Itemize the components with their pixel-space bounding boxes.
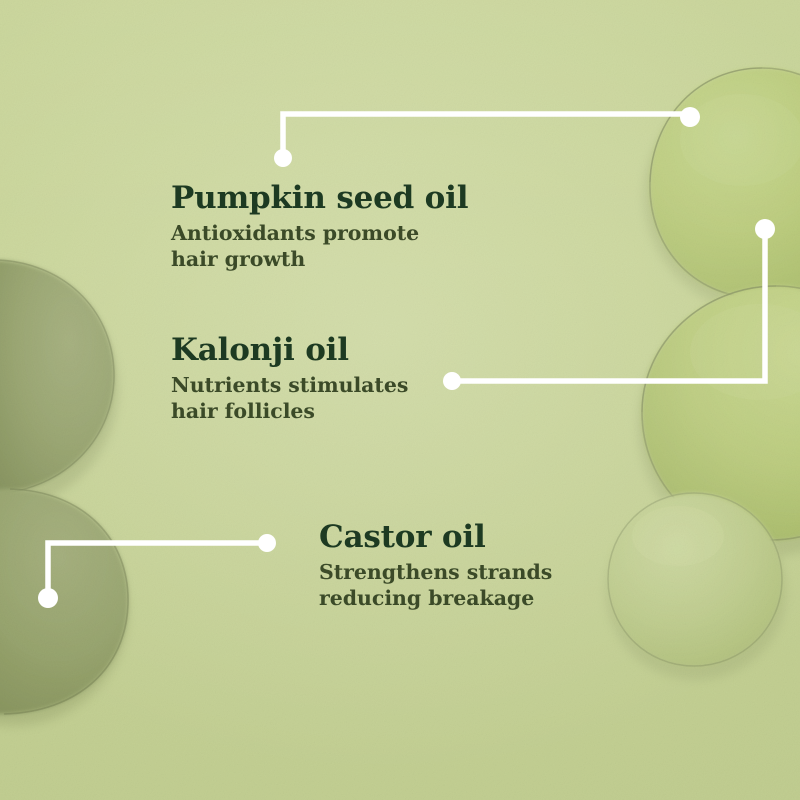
ingredient-description: Strengthens strands reducing breakage (319, 560, 552, 612)
blob-bottom-right (608, 493, 782, 666)
ingredient-block-pumpkin-seed-oil: Pumpkin seed oil Antioxidants promote ha… (171, 182, 468, 273)
infographic-canvas: Pumpkin seed oil Antioxidants promote ha… (0, 0, 800, 800)
ingredient-description: Nutrients stimulates hair follicles (171, 373, 408, 425)
ingredient-description: Antioxidants promote hair growth (171, 221, 468, 273)
ingredient-title: Pumpkin seed oil (171, 182, 468, 214)
ingredient-block-kalonji-oil: Kalonji oil Nutrients stimulates hair fo… (171, 334, 408, 425)
ingredient-block-castor-oil: Castor oil Strengthens strands reducing … (319, 521, 552, 612)
ingredient-title: Kalonji oil (171, 334, 408, 366)
ingredient-title: Castor oil (319, 521, 552, 553)
